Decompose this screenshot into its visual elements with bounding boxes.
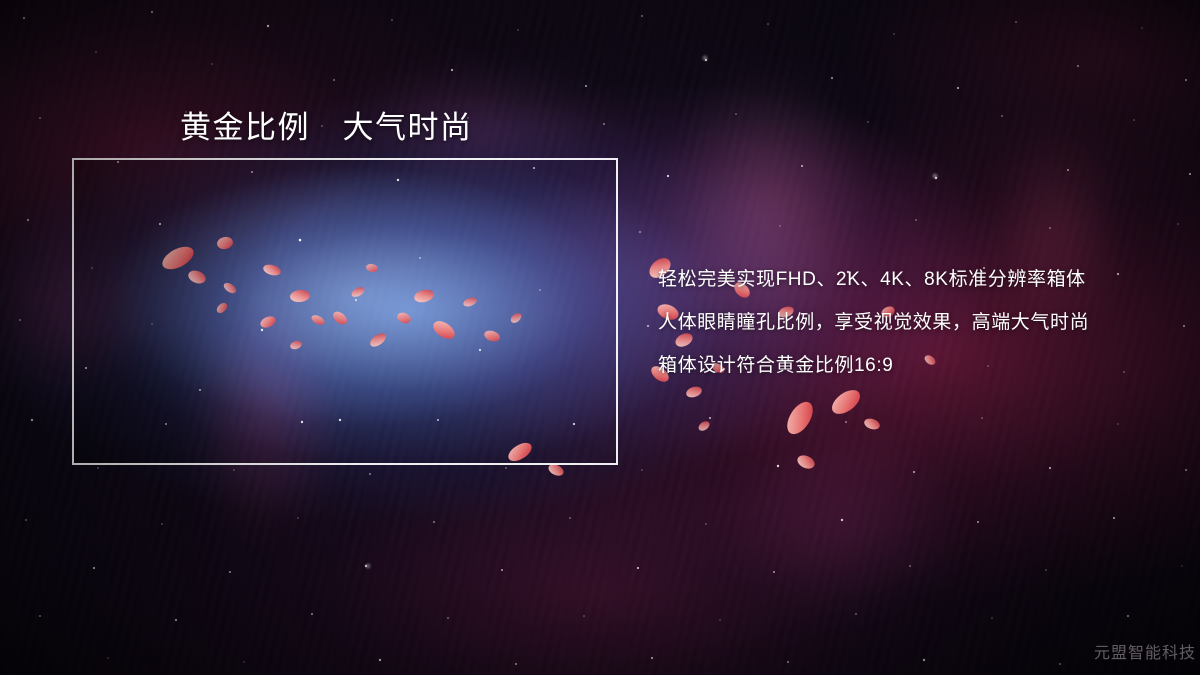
- body-line: 人体眼睛瞳孔比例，享受视觉效果，高端大气时尚: [658, 301, 1178, 344]
- preview-petal-layer: [72, 158, 618, 465]
- preview-content: [72, 158, 618, 465]
- page-title: 黄金比例 大气时尚: [180, 102, 473, 147]
- body-copy: 轻松完美实现FHD、2K、4K、8K标准分辨率箱体 人体眼睛瞳孔比例，享受视觉效…: [658, 258, 1178, 387]
- preview-nebula-background: [72, 158, 618, 465]
- body-line: 箱体设计符合黄金比例16:9: [658, 344, 1178, 387]
- watermark: 元盟智能科技: [1094, 639, 1196, 663]
- preview-nebula-dust: [72, 158, 618, 465]
- body-line: 轻松完美实现FHD、2K、4K、8K标准分辨率箱体: [658, 258, 1178, 301]
- preview-nebula-wisps: [72, 158, 618, 465]
- preview-frame-16-9[interactable]: [72, 158, 618, 465]
- slide-root: 黄金比例 大气时尚 轻松完美实现FHD、2K、4K、8K标准分辨率箱体 人体眼睛…: [0, 0, 1200, 675]
- preview-vignette: [72, 158, 618, 465]
- preview-star-field: [72, 158, 618, 465]
